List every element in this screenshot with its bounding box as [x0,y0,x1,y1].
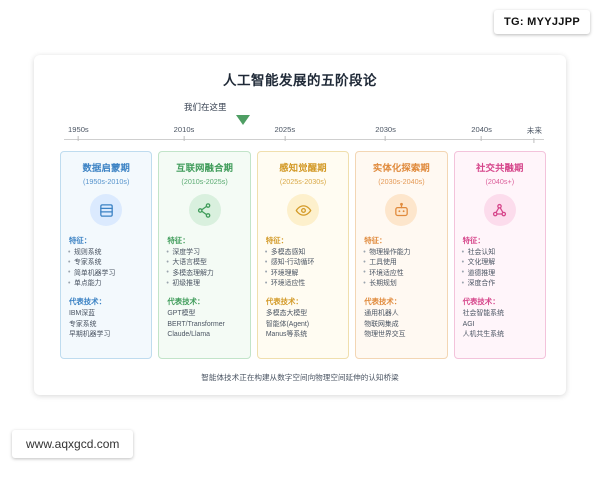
feature-item: 简单机器学习 [67,269,145,279]
telegram-badge: TG: MYYJJPP [494,10,590,34]
stage-card-2[interactable]: 互联网融合期(2010s-2025s)特征：深度学习大语言模型多模态理解力初级推… [158,151,250,359]
tech-list: GPT模型BERT/TransformerClaude/Llama [165,309,243,340]
tech-item: Manus等系统 [264,330,342,340]
stage-card-5[interactable]: 社交共融期(2040s+)特征：社会认知文化理解道德推理深度合作代表技术：社会智… [454,151,546,359]
database-icon [90,194,122,226]
timeline-tick-2: 2025s [274,125,295,141]
timeline-tick-label: 2030s [375,125,396,134]
stage-title: 社交共融期 [461,160,539,174]
feature-item: 深度合作 [461,279,539,289]
stage-list: 数据启蒙期(1950s-2010s)特征：规则系统专家系统简单机器学习单点能力代… [60,151,546,359]
here-marker-triangle-icon [236,115,250,125]
stage-icon-wrap [461,194,539,226]
stage-icon-wrap [67,194,145,226]
feature-item: 规则系统 [67,248,145,258]
timeline-tick-5: 未来 [527,125,542,143]
feature-item: 环境适应性 [362,269,440,279]
timeline-tick-mark [183,136,184,141]
timeline-tick-mark [481,136,482,141]
tech-item: 多模态大模型 [264,309,342,319]
timeline-tick-label: 未来 [527,126,542,135]
stage-period: (2010s-2025s) [165,177,243,186]
feature-item: 多模态感知 [264,248,342,258]
share-nodes-icon [189,194,221,226]
tech-item: 智能体(Agent) [264,320,342,330]
feature-item: 大语言模型 [165,258,243,268]
tech-list: 通用机器人物联网集成物理世界交互 [362,309,440,340]
features-heading: 特征： [364,235,440,246]
site-watermark: www.aqxgcd.com [12,430,133,458]
stage-title: 感知觉醒期 [264,160,342,174]
feature-item: 单点能力 [67,279,145,289]
features-heading: 特征： [69,235,145,246]
features-heading: 特征： [266,235,342,246]
timeline-tick-mark [534,138,535,143]
feature-item: 长期规划 [362,279,440,289]
tech-item: 早期机器学习 [67,330,145,340]
tech-item: GPT模型 [165,309,243,319]
timeline-tick-label: 2010s [174,125,195,134]
tech-list: 多模态大模型智能体(Agent)Manus等系统 [264,309,342,340]
tech-item: 通用机器人 [362,309,440,319]
feature-item: 工具使用 [362,258,440,268]
stage-icon-wrap [362,194,440,226]
timeline-tick-1: 2010s [174,125,195,141]
tech-item: 人机共生系统 [461,330,539,340]
page-title: 人工智能发展的五阶段论 [34,55,566,89]
stage-period: (2025s-2030s) [264,177,342,186]
features-heading: 特征： [167,235,243,246]
stage-icon-wrap [264,194,342,226]
stage-title: 数据启蒙期 [67,160,145,174]
feature-item: 文化理解 [461,258,539,268]
stage-title: 实体化探索期 [362,160,440,174]
timeline-tick-mark [78,136,79,141]
features-list: 社会认知文化理解道德推理深度合作 [461,248,539,289]
feature-item: 初级推理 [165,279,243,289]
feature-item: 环境适应性 [264,279,342,289]
timeline-tick-4: 2040s [471,125,492,141]
tech-item: 专家系统 [67,320,145,330]
tech-item: Claude/Llama [165,330,243,340]
feature-item: 感知-行动循环 [264,258,342,268]
tech-item: 社会智能系统 [461,309,539,319]
tech-list: IBM深蓝专家系统早期机器学习 [67,309,145,340]
stage-card-3[interactable]: 感知觉醒期(2025s-2030s)特征：多模态感知感知-行动循环环境理解环境适… [257,151,349,359]
feature-item: 专家系统 [67,258,145,268]
feature-item: 深度学习 [165,248,243,258]
stage-period: (2040s+) [461,177,539,186]
tech-heading: 代表技术： [364,296,440,307]
timeline-ticks: 1950s2010s2025s2030s2040s未来 [64,125,544,137]
timeline-tick-mark [284,136,285,141]
network-nodes-icon [484,194,516,226]
feature-item: 道德推理 [461,269,539,279]
footer-caption: 智能体技术正在构建从数字空间向物理空间延伸的认知桥梁 [34,372,566,383]
timeline-tick-label: 2025s [274,125,295,134]
features-list: 深度学习大语言模型多模态理解力初级推理 [165,248,243,289]
stage-icon-wrap [165,194,243,226]
timeline-tick-0: 1950s [68,125,89,141]
timeline-tick-label: 1950s [68,125,89,134]
features-list: 物理操作能力工具使用环境适应性长期规划 [362,248,440,289]
feature-item: 物理操作能力 [362,248,440,258]
tech-item: IBM深蓝 [67,309,145,319]
tech-item: 物理世界交互 [362,330,440,340]
feature-item: 社会认知 [461,248,539,258]
features-heading: 特征： [463,235,539,246]
infographic-card: 人工智能发展的五阶段论 我们在这里 1950s2010s2025s2030s20… [34,55,566,395]
tech-heading: 代表技术： [167,296,243,307]
tech-heading: 代表技术： [69,296,145,307]
stage-card-1[interactable]: 数据启蒙期(1950s-2010s)特征：规则系统专家系统简单机器学习单点能力代… [60,151,152,359]
stage-period: (2030s-2040s) [362,177,440,186]
tech-item: 物联网集成 [362,320,440,330]
eye-icon [287,194,319,226]
stage-card-4[interactable]: 实体化探索期(2030s-2040s)特征：物理操作能力工具使用环境适应性长期规… [355,151,447,359]
tech-heading: 代表技术： [266,296,342,307]
feature-item: 多模态理解力 [165,269,243,279]
timeline-tick-mark [385,136,386,141]
tech-item: AGI [461,320,539,330]
robot-icon [385,194,417,226]
timeline-tick-3: 2030s [375,125,396,141]
tech-item: BERT/Transformer [165,320,243,330]
features-list: 多模态感知感知-行动循环环境理解环境适应性 [264,248,342,289]
tech-list: 社会智能系统AGI人机共生系统 [461,309,539,340]
timeline-tick-label: 2040s [471,125,492,134]
here-marker-label: 我们在这里 [184,101,227,113]
tech-heading: 代表技术： [463,296,539,307]
stage-period: (1950s-2010s) [67,177,145,186]
features-list: 规则系统专家系统简单机器学习单点能力 [67,248,145,289]
stage-title: 互联网融合期 [165,160,243,174]
feature-item: 环境理解 [264,269,342,279]
